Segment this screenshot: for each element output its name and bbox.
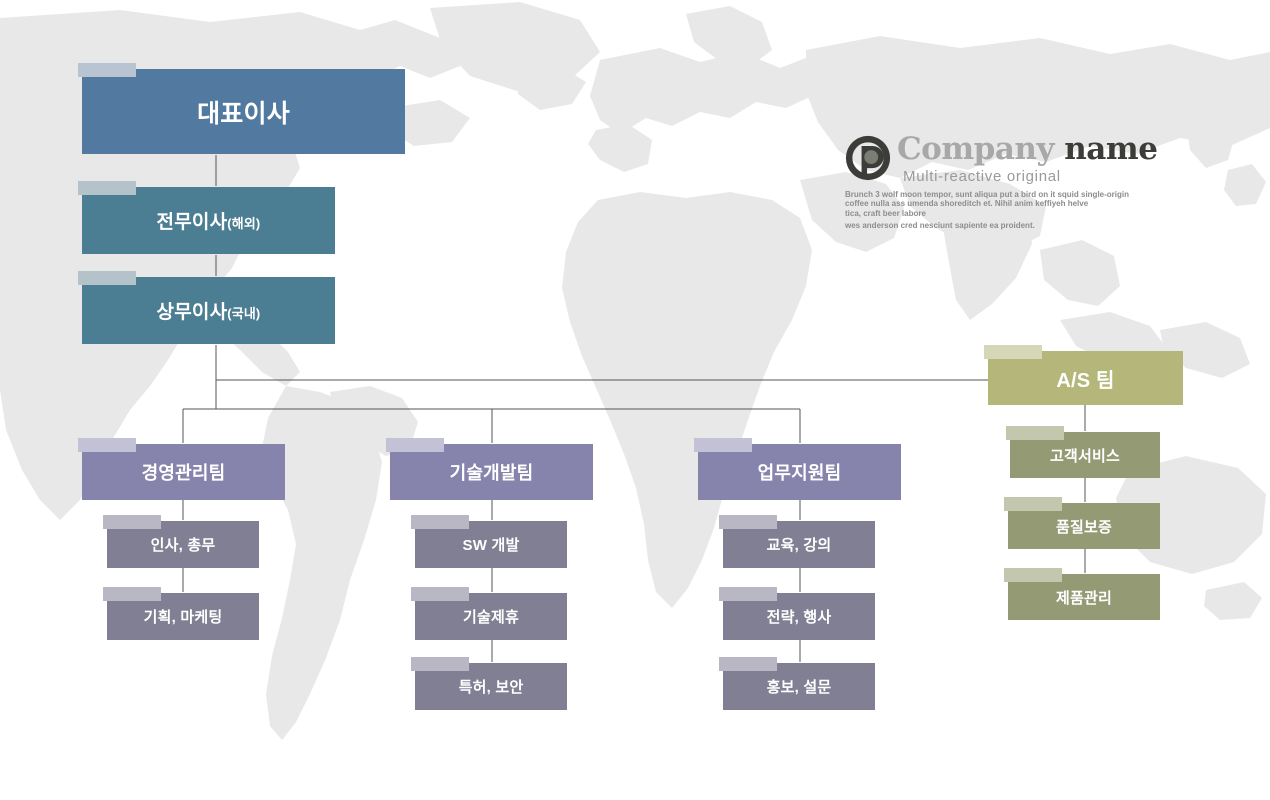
node-executive-director-suffix: (해외) [227,216,260,231]
node-team-rnd-label: 기술개발팀 [450,459,534,485]
node-team-as-sub-3-label: 제품관리 [1056,587,1112,608]
node-team-support-sub-1[interactable]: 교육, 강의 [723,521,875,568]
node-team-rnd-sub-2[interactable]: 기술제휴 [415,593,567,640]
node-team-rnd[interactable]: 기술개발팀 [390,444,593,500]
node-executive-director-label: 전무이사(해외) [157,207,261,234]
node-team-as-sub-1[interactable]: 고객서비스 [1010,432,1160,478]
logo-body-line-1: Brunch 3 wolf moon tempor, sunt aliqua p… [845,190,1097,199]
node-team-support-sub-3-label: 홍보, 설문 [767,676,832,697]
org-chart-canvas: 대표이사 전무이사(해외) 상무이사(국내) 경영관리팀 인사, 총무 기획, … [0,0,1270,800]
node-team-support-sub-1-label: 교육, 강의 [767,534,832,555]
logo-body-line-2: coffee nulla ass umenda shoreditch et. N… [845,199,1097,208]
node-team-support-label: 업무지원팀 [758,459,842,485]
node-team-support-sub-2[interactable]: 전략, 행사 [723,593,875,640]
node-team-as-sub-1-label: 고객서비스 [1050,445,1120,466]
node-team-as-sub-3[interactable]: 제품관리 [1008,574,1160,620]
node-ceo[interactable]: 대표이사 [82,69,405,154]
company-logo-title: Company name [897,132,1157,166]
node-team-management-label: 경영관리팀 [142,459,226,485]
node-managing-director-suffix: (국내) [227,306,260,321]
node-team-rnd-sub-1[interactable]: SW 개발 [415,521,567,568]
node-team-management-sub-2[interactable]: 기획, 마케팅 [107,593,259,640]
node-team-as-label: A/S 팀 [1056,364,1114,393]
p-circle-logo-icon [845,135,891,181]
node-managing-director[interactable]: 상무이사(국내) [82,277,335,344]
node-managing-director-label: 상무이사(국내) [157,297,261,324]
company-logo-block: Company name Multi-reactive original Bru… [845,132,1095,237]
node-team-rnd-sub-3-label: 특허, 보안 [459,676,524,697]
node-team-management-sub-2-label: 기획, 마케팅 [144,606,223,627]
company-logo-title-part2: name [1064,131,1157,167]
company-logo-tagline: Multi-reactive original [903,168,1061,185]
company-logo-body-text: Brunch 3 wolf moon tempor, sunt aliqua p… [845,190,1097,231]
node-team-as-sub-2[interactable]: 품질보증 [1008,503,1160,549]
node-executive-director[interactable]: 전무이사(해외) [82,187,335,254]
logo-body-line-4: wes anderson cred nesciunt sapiente ea p… [845,221,1097,230]
logo-body-line-3: tica, craft beer labore [845,209,1097,218]
node-team-as[interactable]: A/S 팀 [988,351,1183,405]
node-team-support[interactable]: 업무지원팀 [698,444,901,500]
node-team-rnd-sub-1-label: SW 개발 [463,534,520,555]
company-logo-title-part1: Company [897,131,1054,167]
node-team-rnd-sub-2-label: 기술제휴 [463,606,519,627]
node-team-support-sub-2-label: 전략, 행사 [767,606,832,627]
node-team-rnd-sub-3[interactable]: 특허, 보안 [415,663,567,710]
node-ceo-label: 대표이사 [197,94,290,130]
node-team-as-sub-2-label: 품질보증 [1056,516,1112,537]
node-team-management[interactable]: 경영관리팀 [82,444,285,500]
node-team-management-sub-1[interactable]: 인사, 총무 [107,521,259,568]
node-team-support-sub-3[interactable]: 홍보, 설문 [723,663,875,710]
node-team-management-sub-1-label: 인사, 총무 [151,534,216,555]
